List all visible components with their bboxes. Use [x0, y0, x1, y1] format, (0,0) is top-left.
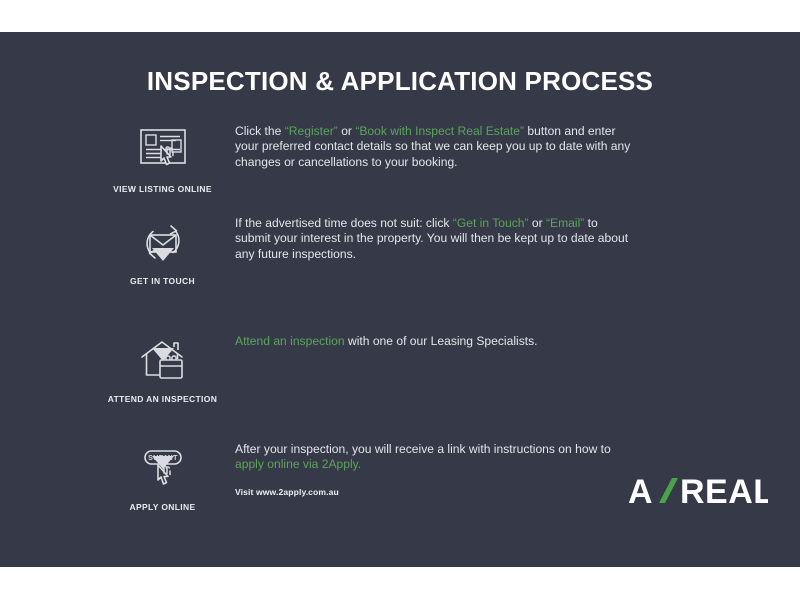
body-segment-accent: Attend an inspection [235, 334, 345, 348]
listing-page-cursor-icon [90, 124, 235, 176]
body-segment-accent: “Book with Inspect Real Estate” [355, 124, 524, 138]
connector-arrow-2 [152, 348, 174, 361]
body-segment-accent: “Get in Touch” [453, 216, 529, 230]
step-body-text: Click the “Register” or “Book with Inspe… [235, 124, 635, 170]
body-segment-accent: apply online via 2Apply. [235, 457, 361, 471]
step-icon-column: ATTEND AN INSPECTION [90, 334, 235, 404]
step-label: GET IN TOUCH [90, 276, 235, 286]
connector-arrow-1 [152, 248, 174, 261]
step-icon-column: SUBMIT APPLY ONLINE [90, 442, 235, 512]
step-body-text: If the advertised time does not suit: cl… [235, 216, 635, 262]
step-label: VIEW LISTING ONLINE [90, 184, 235, 194]
step-body-text: After your inspection, you will receive … [235, 442, 635, 500]
step-body-text: Attend an inspection with one of our Lea… [235, 334, 635, 349]
visit-note: Visit www.2apply.com.au [235, 485, 635, 500]
body-segment: or [529, 216, 546, 230]
connector-arrow-3 [152, 456, 174, 469]
body-segment: with one of our Leasing Specialists. [345, 334, 538, 348]
logo-slash-icon [659, 478, 678, 503]
step-icon-column: VIEW LISTING ONLINE [90, 124, 235, 194]
body-segment: Click the [235, 124, 285, 138]
slide-canvas: INSPECTION & APPLICATION PROCESS [0, 32, 800, 567]
page-title: INSPECTION & APPLICATION PROCESS [0, 66, 800, 97]
body-segment-accent: “Register” [285, 124, 338, 138]
body-segment-accent: “Email” [546, 216, 584, 230]
step-label: ATTEND AN INSPECTION [90, 394, 235, 404]
step-label: APPLY ONLINE [90, 502, 235, 512]
logo-text-left: A [628, 473, 653, 511]
body-segment: If the advertised time does not suit: cl… [235, 216, 453, 230]
body-segment: After your inspection, you will receive … [235, 442, 611, 456]
body-segment: or [338, 124, 355, 138]
brand-logo: A REAL [628, 472, 768, 512]
logo-text-right: REAL [680, 473, 768, 511]
